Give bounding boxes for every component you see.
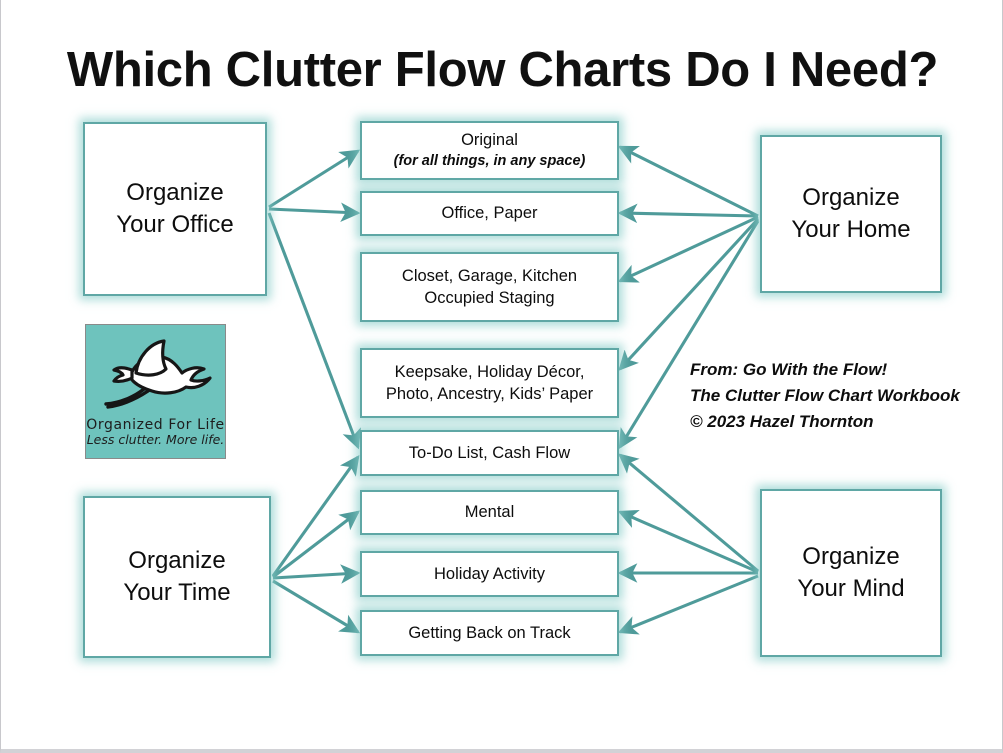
node-office-line2: Your Office [116, 211, 233, 238]
node-organize-your-office[interactable]: Organize Your Office [83, 122, 267, 296]
node-time-line1: Organize [128, 547, 225, 574]
node-mind-line2: Your Mind [797, 575, 904, 602]
arrow-office-to-office-paper [269, 209, 358, 213]
arrow-home-to-closet [620, 217, 758, 281]
chart-original-subtitle: (for all things, in any space) [394, 152, 586, 171]
arrow-office-to-todo [269, 213, 358, 447]
node-home-line1: Organize [802, 184, 899, 211]
arrow-mind-to-todo [620, 455, 758, 571]
arrow-home-to-original [620, 147, 758, 216]
node-organize-your-home[interactable]: Organize Your Home [760, 135, 942, 293]
node-time-line2: Your Time [123, 579, 230, 606]
node-chart-office-paper[interactable]: Office, Paper [360, 191, 619, 236]
attribution-line-1: From: Go With the Flow! [690, 357, 960, 383]
chart-original-title: Original [394, 129, 586, 151]
attribution-block: From: Go With the Flow! The Clutter Flow… [690, 357, 960, 434]
node-chart-todo-cash-flow[interactable]: To-Do List, Cash Flow [360, 430, 619, 476]
arrow-home-to-keepsake [620, 219, 758, 369]
chart-holiday-title: Holiday Activity [434, 563, 545, 585]
chart-keepsake-line2: Photo, Ancestry, Kids’ Paper [386, 383, 593, 405]
arrow-home-to-office-paper [620, 213, 758, 216]
organized-for-life-logo: Organized For Life Less clutter. More li… [85, 324, 226, 459]
node-organize-your-time[interactable]: Organize Your Time [83, 496, 271, 658]
node-chart-holiday-activity[interactable]: Holiday Activity [360, 551, 619, 597]
arrow-mind-to-mental [620, 512, 758, 572]
chart-office-paper-title: Office, Paper [442, 202, 538, 224]
arrow-time-to-track [273, 581, 358, 632]
chart-todo-title: To-Do List, Cash Flow [409, 442, 570, 464]
chart-closet-line2: Occupied Staging [402, 287, 577, 309]
node-chart-mental[interactable]: Mental [360, 490, 619, 535]
chart-track-title: Getting Back on Track [408, 622, 570, 644]
chart-keepsake-line1: Keepsake, Holiday Décor, [386, 361, 593, 383]
flow-chart-canvas: Which Clutter Flow Charts Do I Need? [0, 0, 1003, 753]
logo-text-block: Organized For Life Less clutter. More li… [86, 417, 225, 447]
arrow-mind-to-track [620, 576, 758, 632]
arrow-office-to-original [269, 151, 358, 207]
arrow-time-to-todo [273, 457, 358, 576]
logo-tagline: Less clutter. More life. [86, 432, 225, 447]
node-chart-getting-back-on-track[interactable]: Getting Back on Track [360, 610, 619, 656]
chart-mental-title: Mental [465, 501, 515, 523]
arrow-time-to-mental [273, 512, 358, 577]
attribution-line-2: The Clutter Flow Chart Workbook [690, 383, 960, 409]
node-organize-your-mind[interactable]: Organize Your Mind [760, 489, 942, 657]
logo-name: Organized For Life [86, 417, 225, 433]
attribution-line-3: © 2023 Hazel Thornton [690, 409, 960, 435]
arrow-time-to-holiday [273, 573, 358, 578]
node-office-line1: Organize [126, 179, 223, 206]
chart-closet-line1: Closet, Garage, Kitchen [402, 265, 577, 287]
node-chart-closet-garage-kitchen[interactable]: Closet, Garage, Kitchen Occupied Staging [360, 252, 619, 322]
node-mind-line1: Organize [802, 543, 899, 570]
node-chart-original[interactable]: Original (for all things, in any space) [360, 121, 619, 180]
node-home-line2: Your Home [791, 216, 910, 243]
node-chart-keepsake[interactable]: Keepsake, Holiday Décor, Photo, Ancestry… [360, 348, 619, 418]
flying-heron-icon [92, 329, 220, 417]
